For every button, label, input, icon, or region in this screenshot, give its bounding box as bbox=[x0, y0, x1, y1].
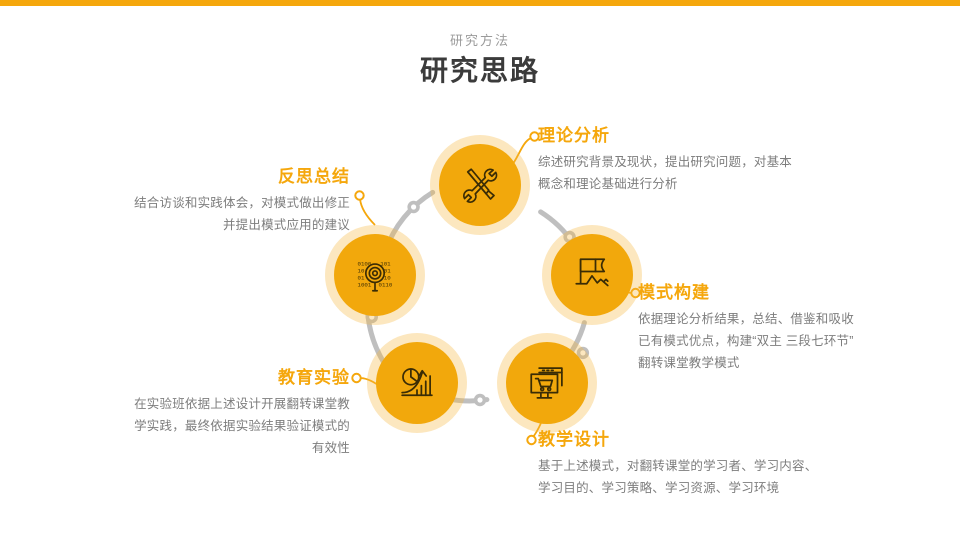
leader-dot-reflection-summary bbox=[355, 191, 363, 199]
text-block-reflection-summary: 反思总结 结合访谈和实践体会，对模式做出修正 并提出模式应用的建议 bbox=[45, 165, 350, 236]
heading-instructional-design: 教学设计 bbox=[538, 428, 898, 452]
page-subtitle: 研究方法 bbox=[0, 32, 960, 50]
page-header: 研究方法 研究思路 bbox=[0, 32, 960, 90]
monitor-cart-icon bbox=[526, 362, 568, 404]
heading-model-construction: 模式构建 bbox=[638, 281, 958, 305]
svg-text:1001: 1001 bbox=[358, 281, 372, 288]
leader-dot-instructional-design bbox=[527, 436, 535, 444]
magnifier-binary-icon: 0100101 1001 0110 10010110 bbox=[354, 254, 396, 296]
body-model-construction: 依据理论分析结果，总结、借鉴和吸收 已有模式优点，构建“双主 三段七环节” 翻转… bbox=[638, 308, 958, 374]
node-instructional-design[interactable] bbox=[506, 342, 588, 424]
heading-reflection-summary: 反思总结 bbox=[45, 165, 350, 189]
body-instructional-design: 基于上述模式，对翻转课堂的学习者、学习内容、 学习目的、学习策略、学习资源、学习… bbox=[538, 455, 898, 499]
top-accent-bar bbox=[0, 0, 960, 6]
page-title: 研究思路 bbox=[0, 52, 960, 90]
node-education-experiment[interactable] bbox=[376, 342, 458, 424]
flag-mountain-icon bbox=[571, 254, 613, 296]
svg-text:01: 01 bbox=[358, 274, 365, 281]
heading-education-experiment: 教育实验 bbox=[45, 366, 350, 390]
body-theory-analysis: 综述研究背景及现状，提出研究问题，对基本 概念和理论基础进行分析 bbox=[538, 151, 868, 195]
text-block-theory-analysis: 理论分析 综述研究背景及现状，提出研究问题，对基本 概念和理论基础进行分析 bbox=[538, 124, 868, 195]
heading-theory-analysis: 理论分析 bbox=[538, 124, 868, 148]
leader-line-reflection-summary bbox=[360, 199, 375, 225]
pie-growth-chart-icon bbox=[396, 362, 438, 404]
svg-text:0110: 0110 bbox=[379, 281, 393, 288]
body-education-experiment: 在实验班依据上述设计开展翻转课堂教 学实践，最终依据实验结果验证模式的 有效性 bbox=[45, 393, 350, 459]
svg-text:10: 10 bbox=[358, 267, 365, 274]
node-model-construction[interactable] bbox=[551, 234, 633, 316]
node-reflection-summary[interactable]: 0100101 1001 0110 10010110 bbox=[334, 234, 416, 316]
text-block-education-experiment: 教育实验 在实验班依据上述设计开展翻转课堂教 学实践，最终依据实验结果验证模式的… bbox=[45, 366, 350, 459]
node-theory-analysis[interactable] bbox=[439, 144, 521, 226]
leader-dot-education-experiment bbox=[352, 374, 360, 382]
body-reflection-summary: 结合访谈和实践体会，对模式做出修正 并提出模式应用的建议 bbox=[45, 192, 350, 236]
wrench-screwdriver-icon bbox=[459, 164, 501, 206]
text-block-model-construction: 模式构建 依据理论分析结果，总结、借鉴和吸收 已有模式优点，构建“双主 三段七环… bbox=[638, 281, 958, 374]
text-block-instructional-design: 教学设计 基于上述模式，对翻转课堂的学习者、学习内容、 学习目的、学习策略、学习… bbox=[538, 428, 898, 499]
svg-text:10: 10 bbox=[384, 274, 391, 281]
